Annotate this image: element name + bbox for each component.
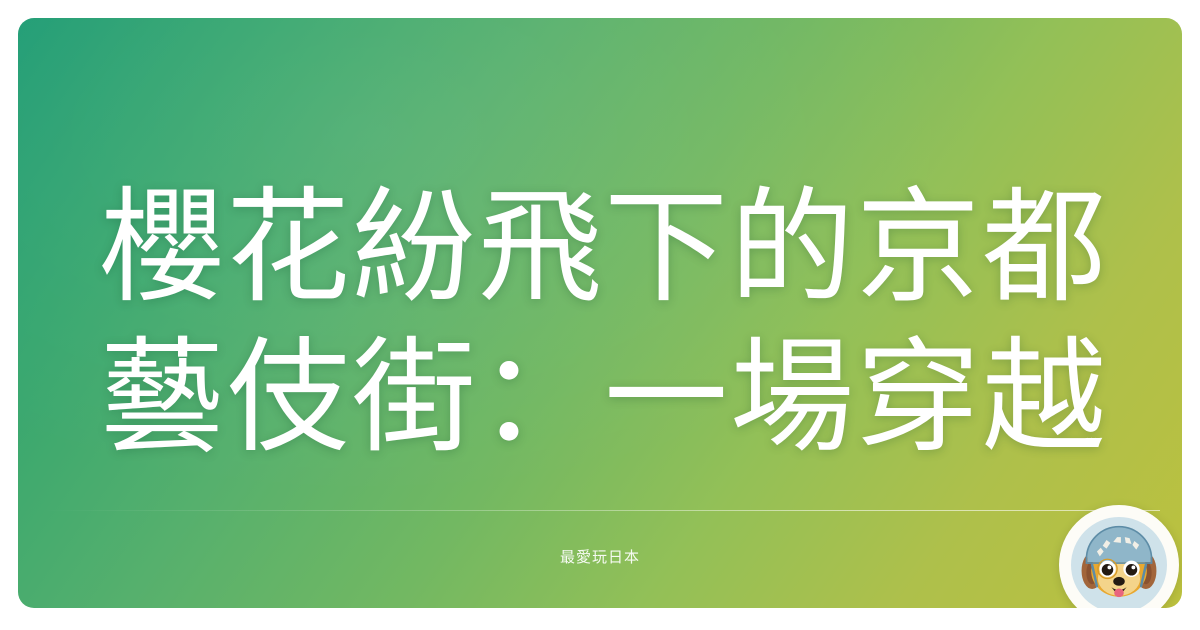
dog-with-helmet-icon [1071,517,1167,608]
page-title-line-1: 櫻花紛飛下的京都 [100,173,1182,323]
hero-card: 櫻花紛飛下的京都 藝伎街：一場穿越 最愛玩日本 [18,18,1182,608]
page-title: 櫻花紛飛下的京都 藝伎街：一場穿越 [100,173,1182,473]
title-block: 櫻花紛飛下的京都 藝伎街：一場穿越 [100,173,1182,473]
footer-divider [40,510,1160,511]
page-title-line-2: 藝伎街：一場穿越 [100,323,1182,473]
page-canvas: 櫻花紛飛下的京都 藝伎街：一場穿越 最愛玩日本 [0,0,1200,630]
dog-with-helmet-avatar[interactable] [1059,505,1179,608]
site-name: 最愛玩日本 [18,546,1182,567]
